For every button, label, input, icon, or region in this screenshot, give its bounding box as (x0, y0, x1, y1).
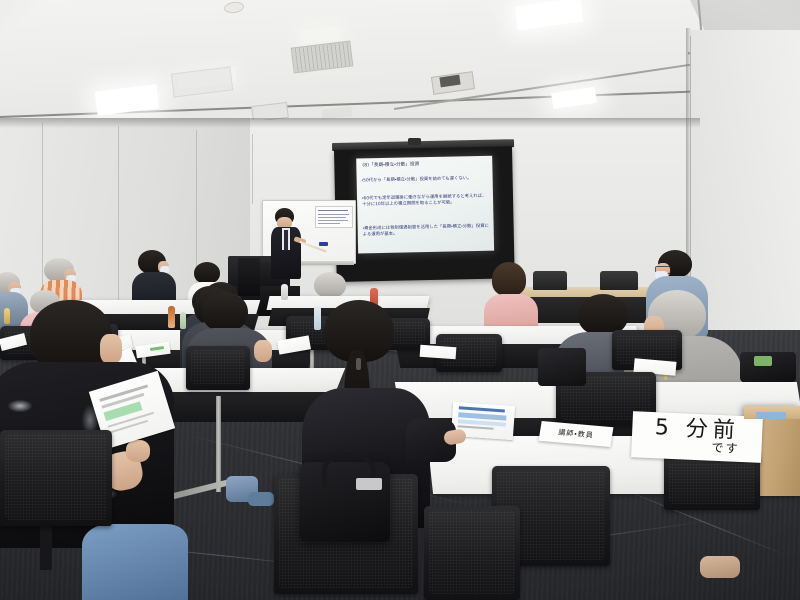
speaker-cabinet (238, 258, 260, 296)
handout-paper (420, 345, 457, 359)
posted-notice (315, 206, 353, 228)
back-chair (600, 271, 638, 290)
seminar-room-photo: (8)「長期・積立・分散」投資 ・50代から「長期・積立・分散」投資を始めても遅… (0, 0, 800, 600)
hand (126, 440, 150, 462)
bag-on-desk (538, 348, 586, 386)
wall-top-shadow (0, 118, 700, 128)
time-warning-subtext: です (711, 439, 740, 457)
water-bottle (314, 306, 321, 330)
hair-tie (356, 358, 361, 370)
partition-seam (118, 126, 119, 306)
camera-device (408, 138, 421, 145)
back-chair (533, 271, 567, 290)
head-hair (314, 272, 346, 298)
slide-bullet: ・50代から「長期・積立・分散」投資を始めても遅くない。 (362, 176, 489, 185)
tea-bottle (168, 306, 175, 328)
slide-bullet: ・資金形成には税制優遇制度を活用した「長期・積立・分散」投資による運用が基本。 (363, 224, 490, 240)
water-bottle (281, 284, 288, 300)
whiteboard-magnet (319, 242, 328, 246)
paper-in-bag (356, 478, 382, 490)
jeans (82, 524, 188, 600)
bottle (180, 312, 186, 329)
leg (700, 556, 740, 578)
chair-bottom-center (424, 506, 520, 600)
slide-bullet: ・60代でも定年退職後に働きながら運用を継続すると考えれば、十分に10年以上の積… (362, 194, 489, 210)
box-tape (756, 412, 786, 419)
hand (254, 340, 272, 362)
head-hair (202, 292, 248, 332)
chair-foreground-left (0, 430, 112, 526)
partition-seam (252, 134, 253, 204)
presenter-necktie (284, 230, 288, 250)
projected-slide: (8)「長期・積立・分散」投資 ・50代から「長期・積立・分散」投資を始めても遅… (356, 156, 494, 254)
chair-post (40, 522, 52, 570)
bottle (4, 308, 10, 324)
shoe (248, 492, 274, 506)
partition-seam (42, 122, 43, 302)
head-hair (194, 262, 220, 284)
projection-screen: (8)「長期・積立・分散」投資 ・50代から「長期・積立・分散」投資を始めても遅… (332, 143, 514, 283)
green-item (754, 356, 772, 366)
slide-title: (8)「長期・積立・分散」投資 (362, 161, 488, 169)
desk-leg (216, 396, 221, 492)
ear-neck (100, 334, 122, 364)
screen-surface: (8)「長期・積立・分散」投資 ・50代から「長期・積立・分散」投資を始めても遅… (334, 146, 515, 282)
chair-midrow (186, 346, 250, 390)
head-hair (492, 262, 526, 296)
